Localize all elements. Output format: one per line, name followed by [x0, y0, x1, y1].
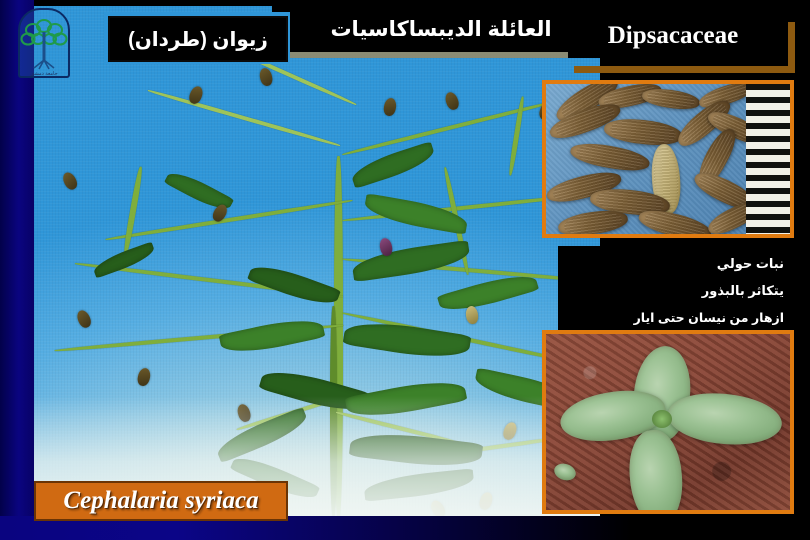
habit-photo	[34, 6, 600, 516]
university-tree-logo: جامعة دمشق	[18, 8, 70, 78]
binomial-name: Cephalaria syriaca	[63, 487, 258, 515]
family-name-arabic: العائلة الديبساكاسيات	[272, 6, 610, 52]
local-name-arabic: زيوان (طردان)	[108, 16, 288, 62]
description-note-block: نبات حولي يتكاثر بالبذور ازهار من نيسان …	[558, 246, 798, 336]
header-plate-shadow	[272, 52, 610, 58]
note-line-flowering: ازهار من نيسان حتى ايار	[564, 312, 784, 326]
seedling-growing-point	[652, 410, 672, 428]
tree-icon	[18, 8, 70, 78]
binomial-caption-band: Cephalaria syriaca	[34, 481, 288, 521]
seeds-photo	[542, 80, 794, 238]
family-name-latin: Dipsacaceae	[568, 14, 778, 58]
frame-left	[0, 0, 34, 540]
ruler-scale	[746, 84, 790, 234]
slide-canvas: نبات حولي يتكاثر بالبذور ازهار من نيسان …	[0, 0, 810, 540]
seedling-photo	[542, 330, 794, 514]
logo-caption: جامعة دمشق	[18, 71, 70, 77]
note-line-propagation: يتكاثر بالبذور	[564, 284, 784, 298]
note-line-lifecycle: نبات حولي	[564, 257, 784, 271]
